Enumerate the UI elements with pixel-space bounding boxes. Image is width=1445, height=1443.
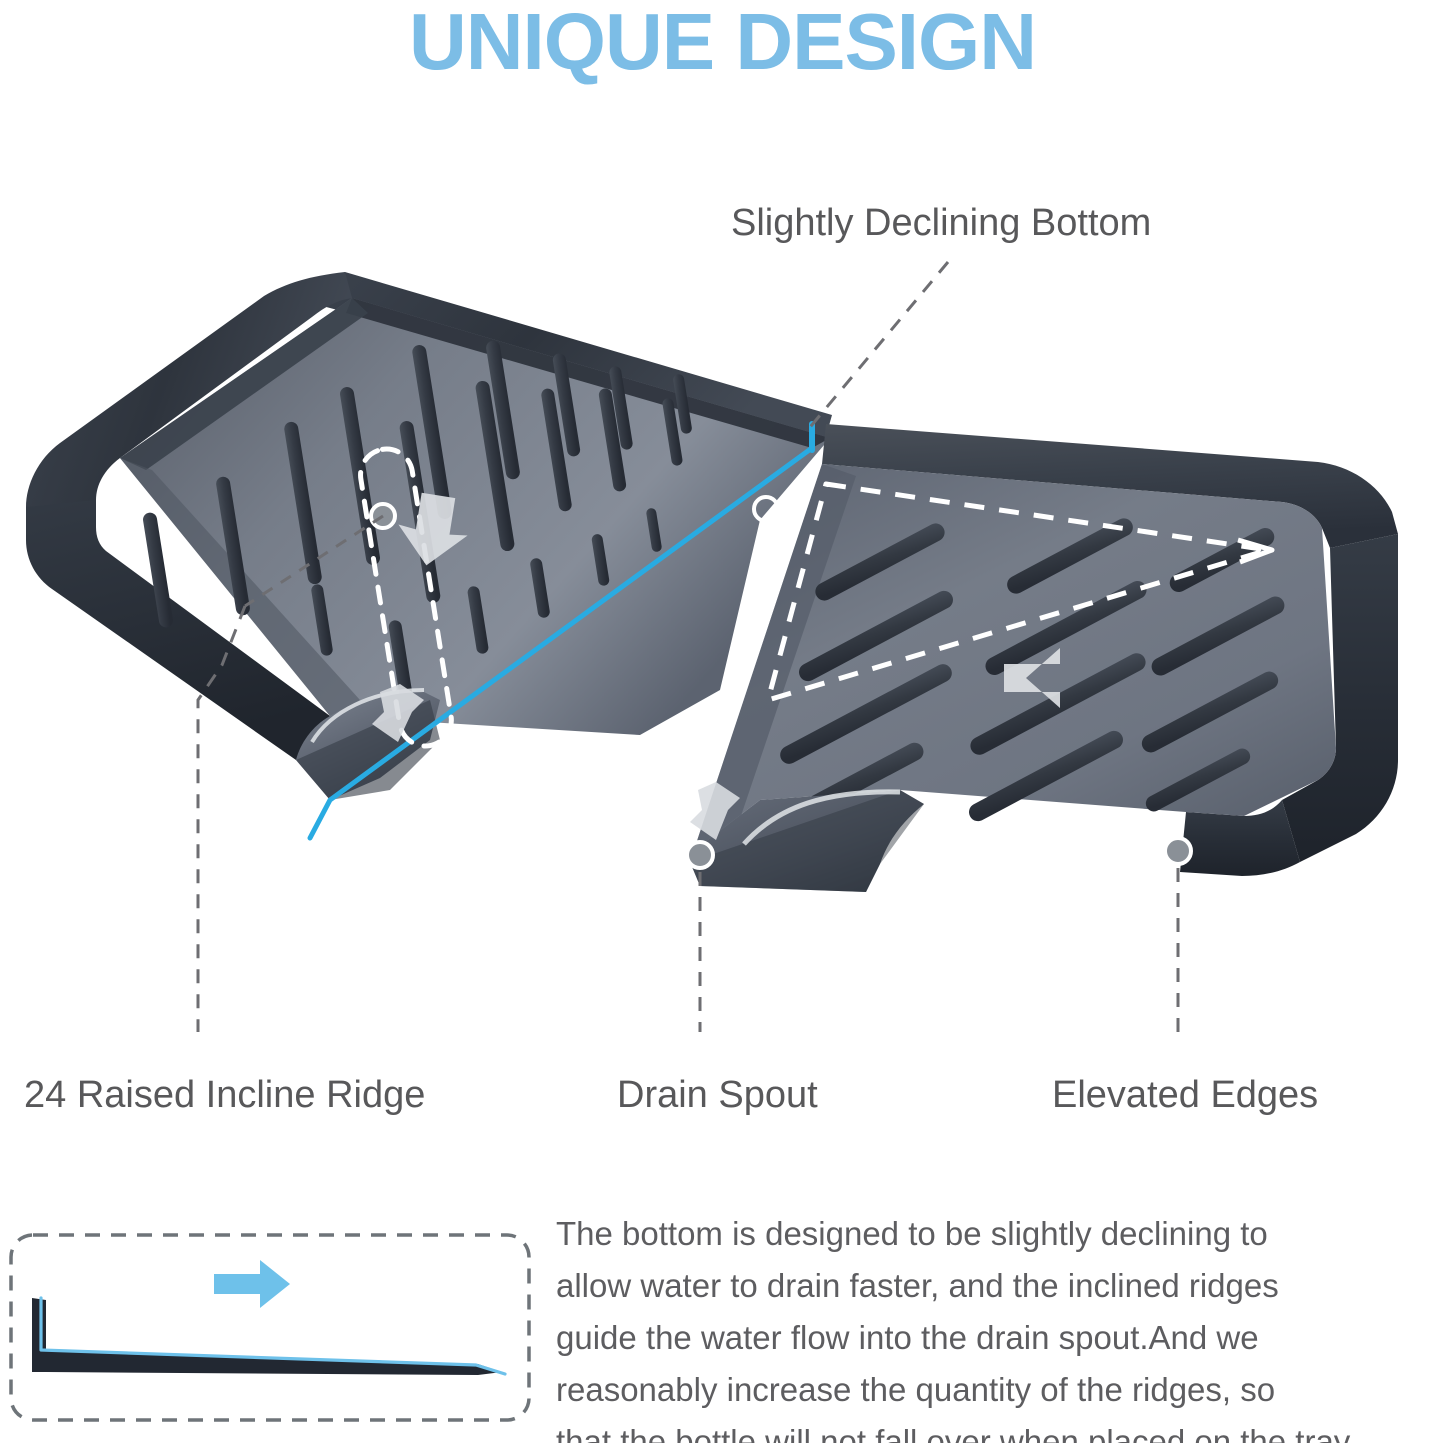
- marker-declining-left: [754, 497, 778, 521]
- marker-drain-spout: [687, 842, 713, 868]
- description-line: allow water to drain faster, and the inc…: [556, 1260, 1445, 1312]
- leader-ridge: [198, 606, 245, 1032]
- marker-ridge: [371, 504, 395, 528]
- cross-section-diagram: [8, 1232, 532, 1423]
- callout-label-slightly-declining-bottom: Slightly Declining Bottom: [731, 203, 1151, 245]
- cross-section-border: [11, 1235, 529, 1420]
- callout-label-drain-spout: Drain Spout: [617, 1075, 818, 1117]
- right-tray: [687, 424, 1398, 892]
- page-title: UNIQUE DESIGN: [0, 2, 1445, 82]
- description-paragraph: The bottom is designed to be slightly de…: [556, 1208, 1445, 1443]
- callout-label-raised-incline-ridge: 24 Raised Incline Ridge: [24, 1075, 425, 1117]
- flow-arrow-right-tray: [1004, 648, 1060, 708]
- cross-section-profile: [32, 1298, 505, 1375]
- leader-declining-bottom: [806, 262, 948, 432]
- description-line: guide the water flow into the drain spou…: [556, 1312, 1445, 1364]
- declining-plane-dashed-triangle: [768, 484, 1272, 700]
- callout-label-elevated-edges: Elevated Edges: [1052, 1075, 1318, 1117]
- cross-section-flow-arrow: [214, 1260, 290, 1308]
- description-line: reasonably increase the quantity of the …: [556, 1364, 1445, 1416]
- flow-arrow-right-spout: [690, 782, 740, 840]
- marker-elevated-edges: [1165, 838, 1191, 864]
- flow-arrow-left-tray: [393, 490, 473, 571]
- description-line: The bottom is designed to be slightly de…: [556, 1208, 1445, 1260]
- flow-arrow-left-spout: [372, 684, 424, 742]
- leader-lines: [198, 262, 1178, 1032]
- description-line: that the bottle will not fall over when …: [556, 1416, 1445, 1443]
- right-tray-ridges: [773, 515, 1287, 832]
- ridge-highlight-dashed-outline: [357, 445, 455, 749]
- declining-accent-line-left: [310, 448, 812, 838]
- left-tray: [26, 272, 832, 838]
- left-tray-ridges: [142, 340, 693, 701]
- infographic-page: UNIQUE DESIGN: [0, 0, 1445, 1443]
